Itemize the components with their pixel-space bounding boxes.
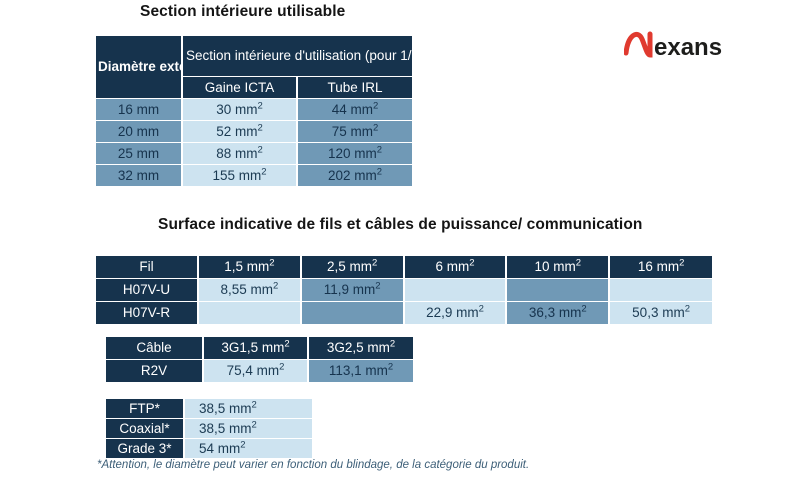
header-cell-3g15: 3G1,5 mm2 <box>203 337 308 360</box>
cell-value: 38,5 mm2 <box>184 399 312 419</box>
table-wire-surface: Fil 1,5 mm2 2,5 mm2 6 mm2 10 mm2 16 mm2 … <box>96 256 712 324</box>
cell-text: 20 mm <box>118 124 159 139</box>
cell-value: 75,4 mm2 <box>203 360 308 383</box>
header-cell-section-5: 16 mm2 <box>609 256 712 279</box>
cell-icta: 30 mm2 <box>182 99 297 121</box>
cell-value: 8,55 mm2 <box>198 279 301 302</box>
superscript: 2 <box>257 123 262 134</box>
header-cell-fil: Fil <box>96 256 198 279</box>
cell-value: 38,5 mm2 <box>184 419 312 439</box>
cell-text: 3G2,5 mm <box>327 340 390 355</box>
table-row-header: Câble 3G1,5 mm2 3G2,5 mm2 <box>106 337 413 360</box>
cell-icta: 155 mm2 <box>182 165 297 187</box>
superscript: 2 <box>372 258 377 269</box>
cell-diameter: 25 mm <box>96 143 182 165</box>
cell-diameter: 20 mm <box>96 121 182 143</box>
cell-text: 6 mm <box>435 259 469 274</box>
cell-value <box>198 302 301 325</box>
table-usable-interior-section: Diamètre extérieur de la gaine Section i… <box>96 36 412 186</box>
superscript: 2 <box>581 304 586 315</box>
row-label-r2v: R2V <box>106 360 203 383</box>
table-row: Coaxial* 38,5 mm2 <box>106 419 312 439</box>
cell-diameter: 32 mm <box>96 165 182 187</box>
cell-irl: 120 mm2 <box>297 143 412 165</box>
cell-text: 16 mm <box>118 102 159 117</box>
superscript: 2 <box>252 420 257 431</box>
cell-text: 36,3 mm <box>529 305 582 320</box>
header-cell-interior-section-group: Section intérieure d'utilisation (pour 1… <box>182 36 412 77</box>
superscript: 2 <box>373 101 378 112</box>
cell-text: 75 mm <box>332 124 373 139</box>
cell-text: 32 mm <box>118 168 159 183</box>
cell-diameter: 16 mm <box>96 99 182 121</box>
superscript: 2 <box>257 145 262 156</box>
table-row: 16 mm 30 mm2 44 mm2 <box>96 99 412 121</box>
row-label-coaxial: Coaxial* <box>106 419 184 439</box>
row-label-h07v-u: H07V-U <box>96 279 198 302</box>
cell-text: Câble <box>136 340 171 355</box>
cell-icta: 52 mm2 <box>182 121 297 143</box>
superscript: 2 <box>269 258 274 269</box>
header-cell-gaine-icta: Gaine ICTA <box>182 77 297 99</box>
cell-text: 11,9 mm <box>324 282 376 297</box>
cell-value: 50,3 mm2 <box>609 302 712 325</box>
cell-text: 75,4 mm <box>227 363 280 378</box>
superscript: 2 <box>240 440 245 451</box>
nexans-logo-wordmark: exans <box>654 34 722 61</box>
superscript: 2 <box>252 400 257 411</box>
cell-value <box>301 302 404 325</box>
superscript: 2 <box>685 304 690 315</box>
cell-text: 88 mm <box>216 146 257 161</box>
superscript: 2 <box>576 258 581 269</box>
table-row-header: Diamètre extérieur de la gaine Section i… <box>96 36 412 77</box>
section-title-interior-section: Section intérieure utilisable <box>140 3 345 21</box>
section-title-indicative-surface: Surface indicative de fils et câbles de … <box>158 216 642 234</box>
cell-text: 50,3 mm <box>632 305 685 320</box>
superscript: 2 <box>377 145 382 156</box>
superscript: 2 <box>284 339 289 350</box>
cell-text: 54 mm <box>199 441 240 456</box>
cell-value: 22,9 mm2 <box>404 302 507 325</box>
superscript: 2 <box>261 167 266 178</box>
superscript: 2 <box>257 101 262 112</box>
superscript: 2 <box>390 339 395 350</box>
cell-value <box>404 279 507 302</box>
table-row: 32 mm 155 mm2 202 mm2 <box>96 165 412 187</box>
cell-text: 38,5 mm <box>199 401 252 416</box>
table-row: FTP* 38,5 mm2 <box>106 399 312 419</box>
cell-value: 54 mm2 <box>184 439 312 459</box>
cell-text: 44 mm <box>332 102 373 117</box>
cell-irl: 75 mm2 <box>297 121 412 143</box>
header-cell-cable: Câble <box>106 337 203 360</box>
superscript: 2 <box>377 167 382 178</box>
cell-irl: 44 mm2 <box>297 99 412 121</box>
cell-value: 113,1 mm2 <box>308 360 413 383</box>
table-communication-cables: FTP* 38,5 mm2 Coaxial* 38,5 mm2 Grade 3*… <box>106 399 312 458</box>
header-cell-section-4: 10 mm2 <box>506 256 609 279</box>
cell-text: 1,5 mm <box>224 259 269 274</box>
nexans-logo: exans <box>624 28 774 64</box>
cell-value <box>609 279 712 302</box>
table-row: R2V 75,4 mm2 113,1 mm2 <box>106 360 413 383</box>
row-label-ftp: FTP* <box>106 399 184 419</box>
table-cable-surface: Câble 3G1,5 mm2 3G2,5 mm2 R2V 75,4 mm2 1… <box>106 337 413 382</box>
table-row: 25 mm 88 mm2 120 mm2 <box>96 143 412 165</box>
table-row: H07V-U 8,55 mm2 11,9 mm2 <box>96 279 712 302</box>
cell-value: 11,9 mm2 <box>301 279 404 302</box>
table-row: 20 mm 52 mm2 75 mm2 <box>96 121 412 143</box>
superscript: 2 <box>375 281 380 292</box>
superscript: 2 <box>469 258 474 269</box>
cell-text: 25 mm <box>118 146 159 161</box>
cell-text: 155 mm <box>212 168 261 183</box>
cell-irl: 202 mm2 <box>297 165 412 187</box>
table-row: Grade 3* 54 mm2 <box>106 439 312 459</box>
cell-text: 2,5 mm <box>327 259 372 274</box>
row-label-grade-3: Grade 3* <box>106 439 184 459</box>
cell-text: 120 mm <box>328 146 377 161</box>
header-cell-section-1: 1,5 mm2 <box>198 256 301 279</box>
footnote-text: *Attention, le diamètre peut varier en f… <box>97 459 529 471</box>
cell-icta: 88 mm2 <box>182 143 297 165</box>
table-row-header: Fil 1,5 mm2 2,5 mm2 6 mm2 10 mm2 16 mm2 <box>96 256 712 279</box>
cell-text: 202 mm <box>328 168 377 183</box>
cell-text: Fil <box>139 259 153 274</box>
header-cell-section-3: 6 mm2 <box>404 256 507 279</box>
header-cell-tube-irl: Tube IRL <box>297 77 412 99</box>
cell-text: 8,55 mm <box>220 282 273 297</box>
cell-text: 52 mm <box>216 124 257 139</box>
superscript: 2 <box>679 258 684 269</box>
superscript: 2 <box>279 362 284 373</box>
cell-text: 30 mm <box>216 102 257 117</box>
table-row: H07V-R 22,9 mm2 36,3 mm2 50,3 mm2 <box>96 302 712 325</box>
header-cell-section-2: 2,5 mm2 <box>301 256 404 279</box>
superscript: 2 <box>388 362 393 373</box>
cell-value: 36,3 mm2 <box>506 302 609 325</box>
cell-text: 10 mm <box>535 259 576 274</box>
header-cell-outer-diameter: Diamètre extérieur de la gaine <box>96 36 182 99</box>
cell-value <box>506 279 609 302</box>
nexans-wave-icon <box>626 34 650 55</box>
cell-text: 16 mm <box>638 259 679 274</box>
row-label-h07v-r: H07V-R <box>96 302 198 325</box>
nexans-logo-svg: exans <box>624 28 774 64</box>
cell-text: 22,9 mm <box>426 305 479 320</box>
superscript: 2 <box>273 281 278 292</box>
cell-text: 113,1 mm <box>329 363 388 378</box>
header-cell-3g25: 3G2,5 mm2 <box>308 337 413 360</box>
cell-text: 38,5 mm <box>199 421 252 436</box>
cell-text: 3G1,5 mm <box>221 340 284 355</box>
superscript: 2 <box>479 304 484 315</box>
superscript: 2 <box>373 123 378 134</box>
